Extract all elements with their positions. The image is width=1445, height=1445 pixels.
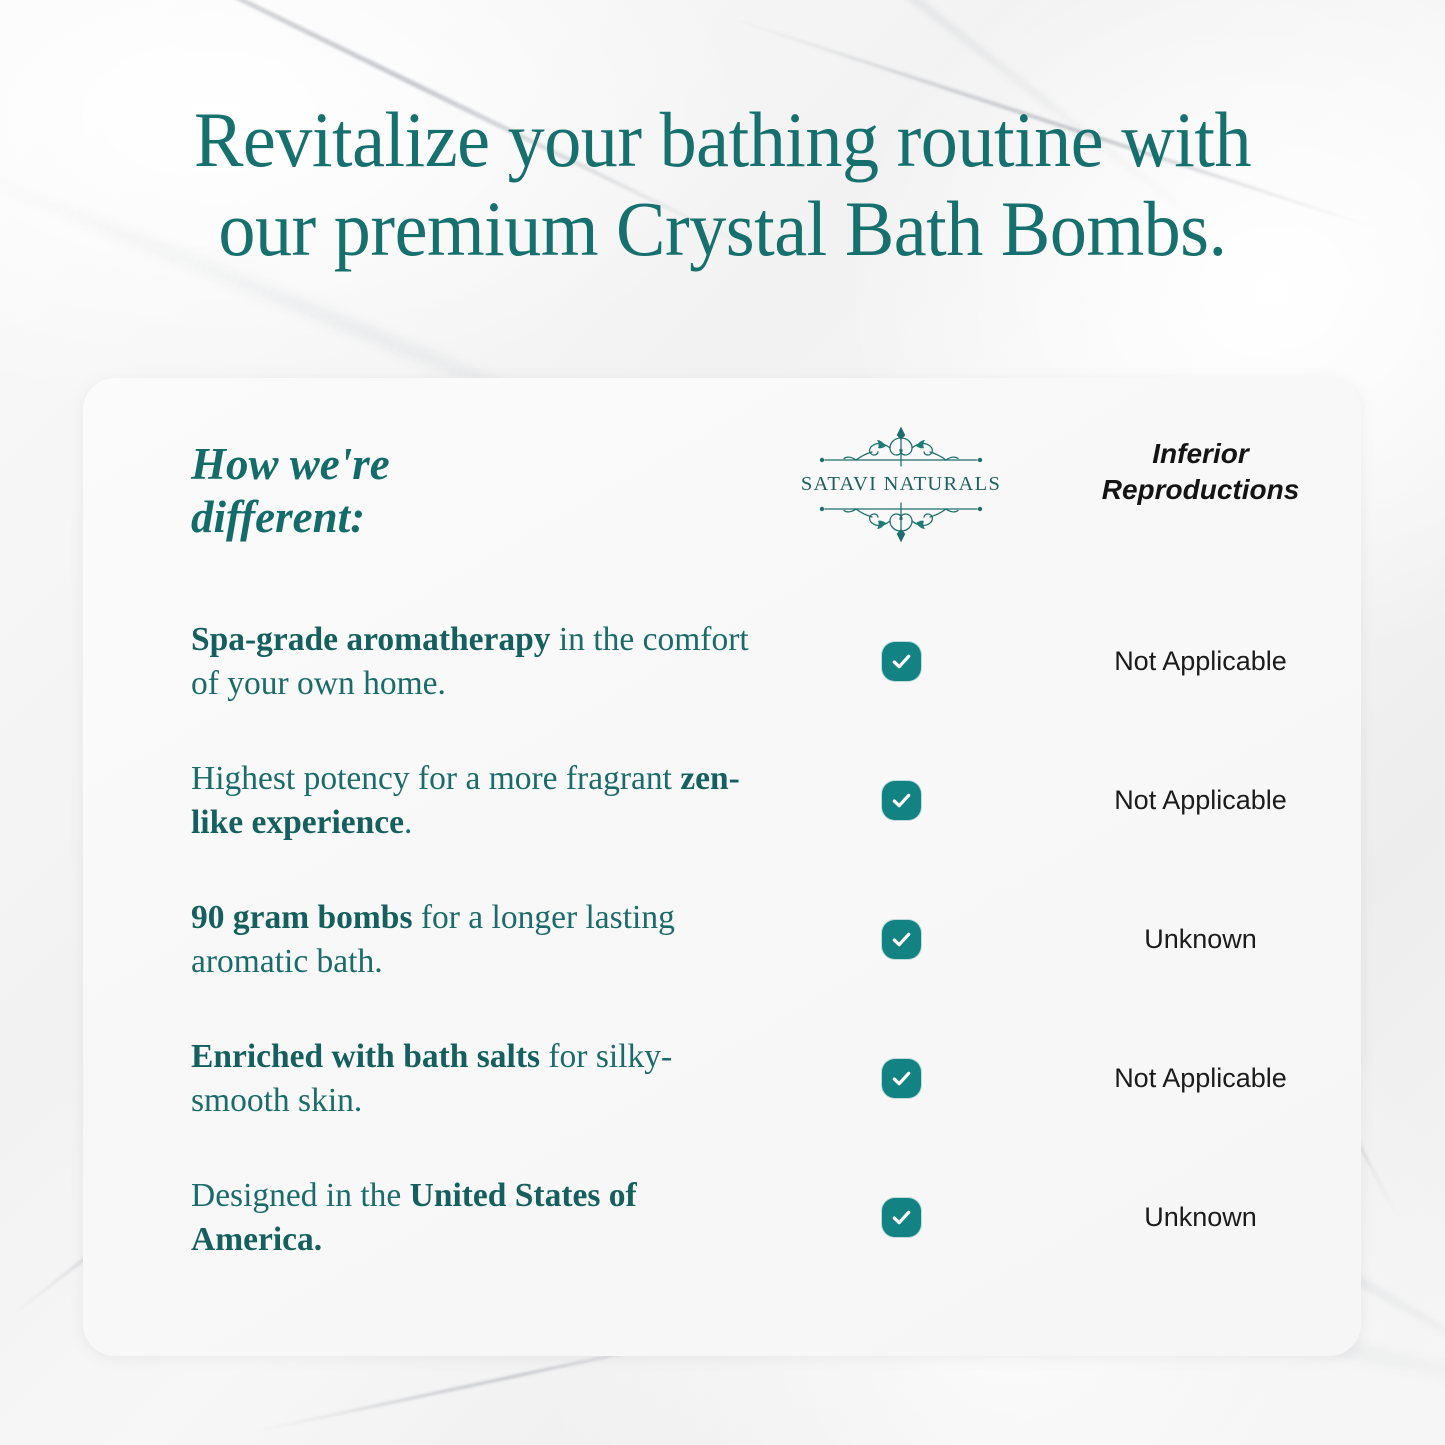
ours-cell — [786, 1035, 1016, 1098]
ours-cell — [786, 757, 1016, 820]
marble-background-page: Revitalize your bathing routine with our… — [0, 0, 1445, 1445]
inferior-reproductions-title: Inferior Reproductions — [1083, 436, 1318, 509]
ours-cell — [786, 1174, 1016, 1237]
check-icon — [882, 642, 921, 681]
comparison-row: Designed in the United States of America… — [83, 1174, 1361, 1294]
feature-highlight: 90 gram bombs — [191, 899, 412, 936]
how-we-are-different-title: How we're different: — [191, 438, 491, 544]
ours-cell — [786, 896, 1016, 959]
feature-lead: Designed in the — [191, 1177, 410, 1214]
check-icon — [882, 781, 921, 820]
feature-highlight: Enriched with bath salts — [191, 1038, 540, 1075]
feature-text: Designed in the United States of America… — [191, 1174, 761, 1262]
feature-lead: Highest potency for a more fragrant — [191, 760, 680, 797]
check-icon — [882, 1059, 921, 1098]
theirs-value: Unknown — [1083, 1174, 1318, 1233]
feature-text: Spa-grade aromatherapy in the comfort of… — [191, 618, 761, 706]
feature-tail: . — [404, 804, 412, 841]
feature-text: 90 gram bombs for a longer lasting aroma… — [191, 896, 761, 984]
comparison-table-header: How we're different: — [83, 378, 1361, 568]
ours-cell — [786, 618, 1016, 681]
theirs-value: Unknown — [1083, 896, 1318, 955]
ornament-flourish-top-icon — [812, 426, 990, 472]
comparison-row: Enriched with bath salts for silky-smoot… — [83, 1035, 1361, 1155]
theirs-value: Not Applicable — [1083, 1035, 1318, 1094]
theirs-value: Not Applicable — [1083, 618, 1318, 677]
brand-name-text: SATAVI NATURALS — [786, 473, 1016, 496]
feature-text: Highest potency for a more fragrant zen-… — [191, 757, 761, 845]
page-headline: Revitalize your bathing routine with our… — [36, 96, 1409, 274]
check-icon — [882, 920, 921, 959]
check-icon — [882, 1198, 921, 1237]
brand-logo: SATAVI NATURALS — [786, 426, 1016, 543]
theirs-value: Not Applicable — [1083, 757, 1318, 816]
comparison-card: How we're different: — [83, 378, 1361, 1356]
feature-text: Enriched with bath salts for silky-smoot… — [191, 1035, 761, 1123]
feature-highlight: Spa-grade aromatherapy — [191, 621, 551, 658]
comparison-row: 90 gram bombs for a longer lasting aroma… — [83, 896, 1361, 1016]
ornament-flourish-bottom-icon — [812, 497, 990, 543]
comparison-row: Spa-grade aromatherapy in the comfort of… — [83, 618, 1361, 738]
comparison-row: Highest potency for a more fragrant zen-… — [83, 757, 1361, 877]
